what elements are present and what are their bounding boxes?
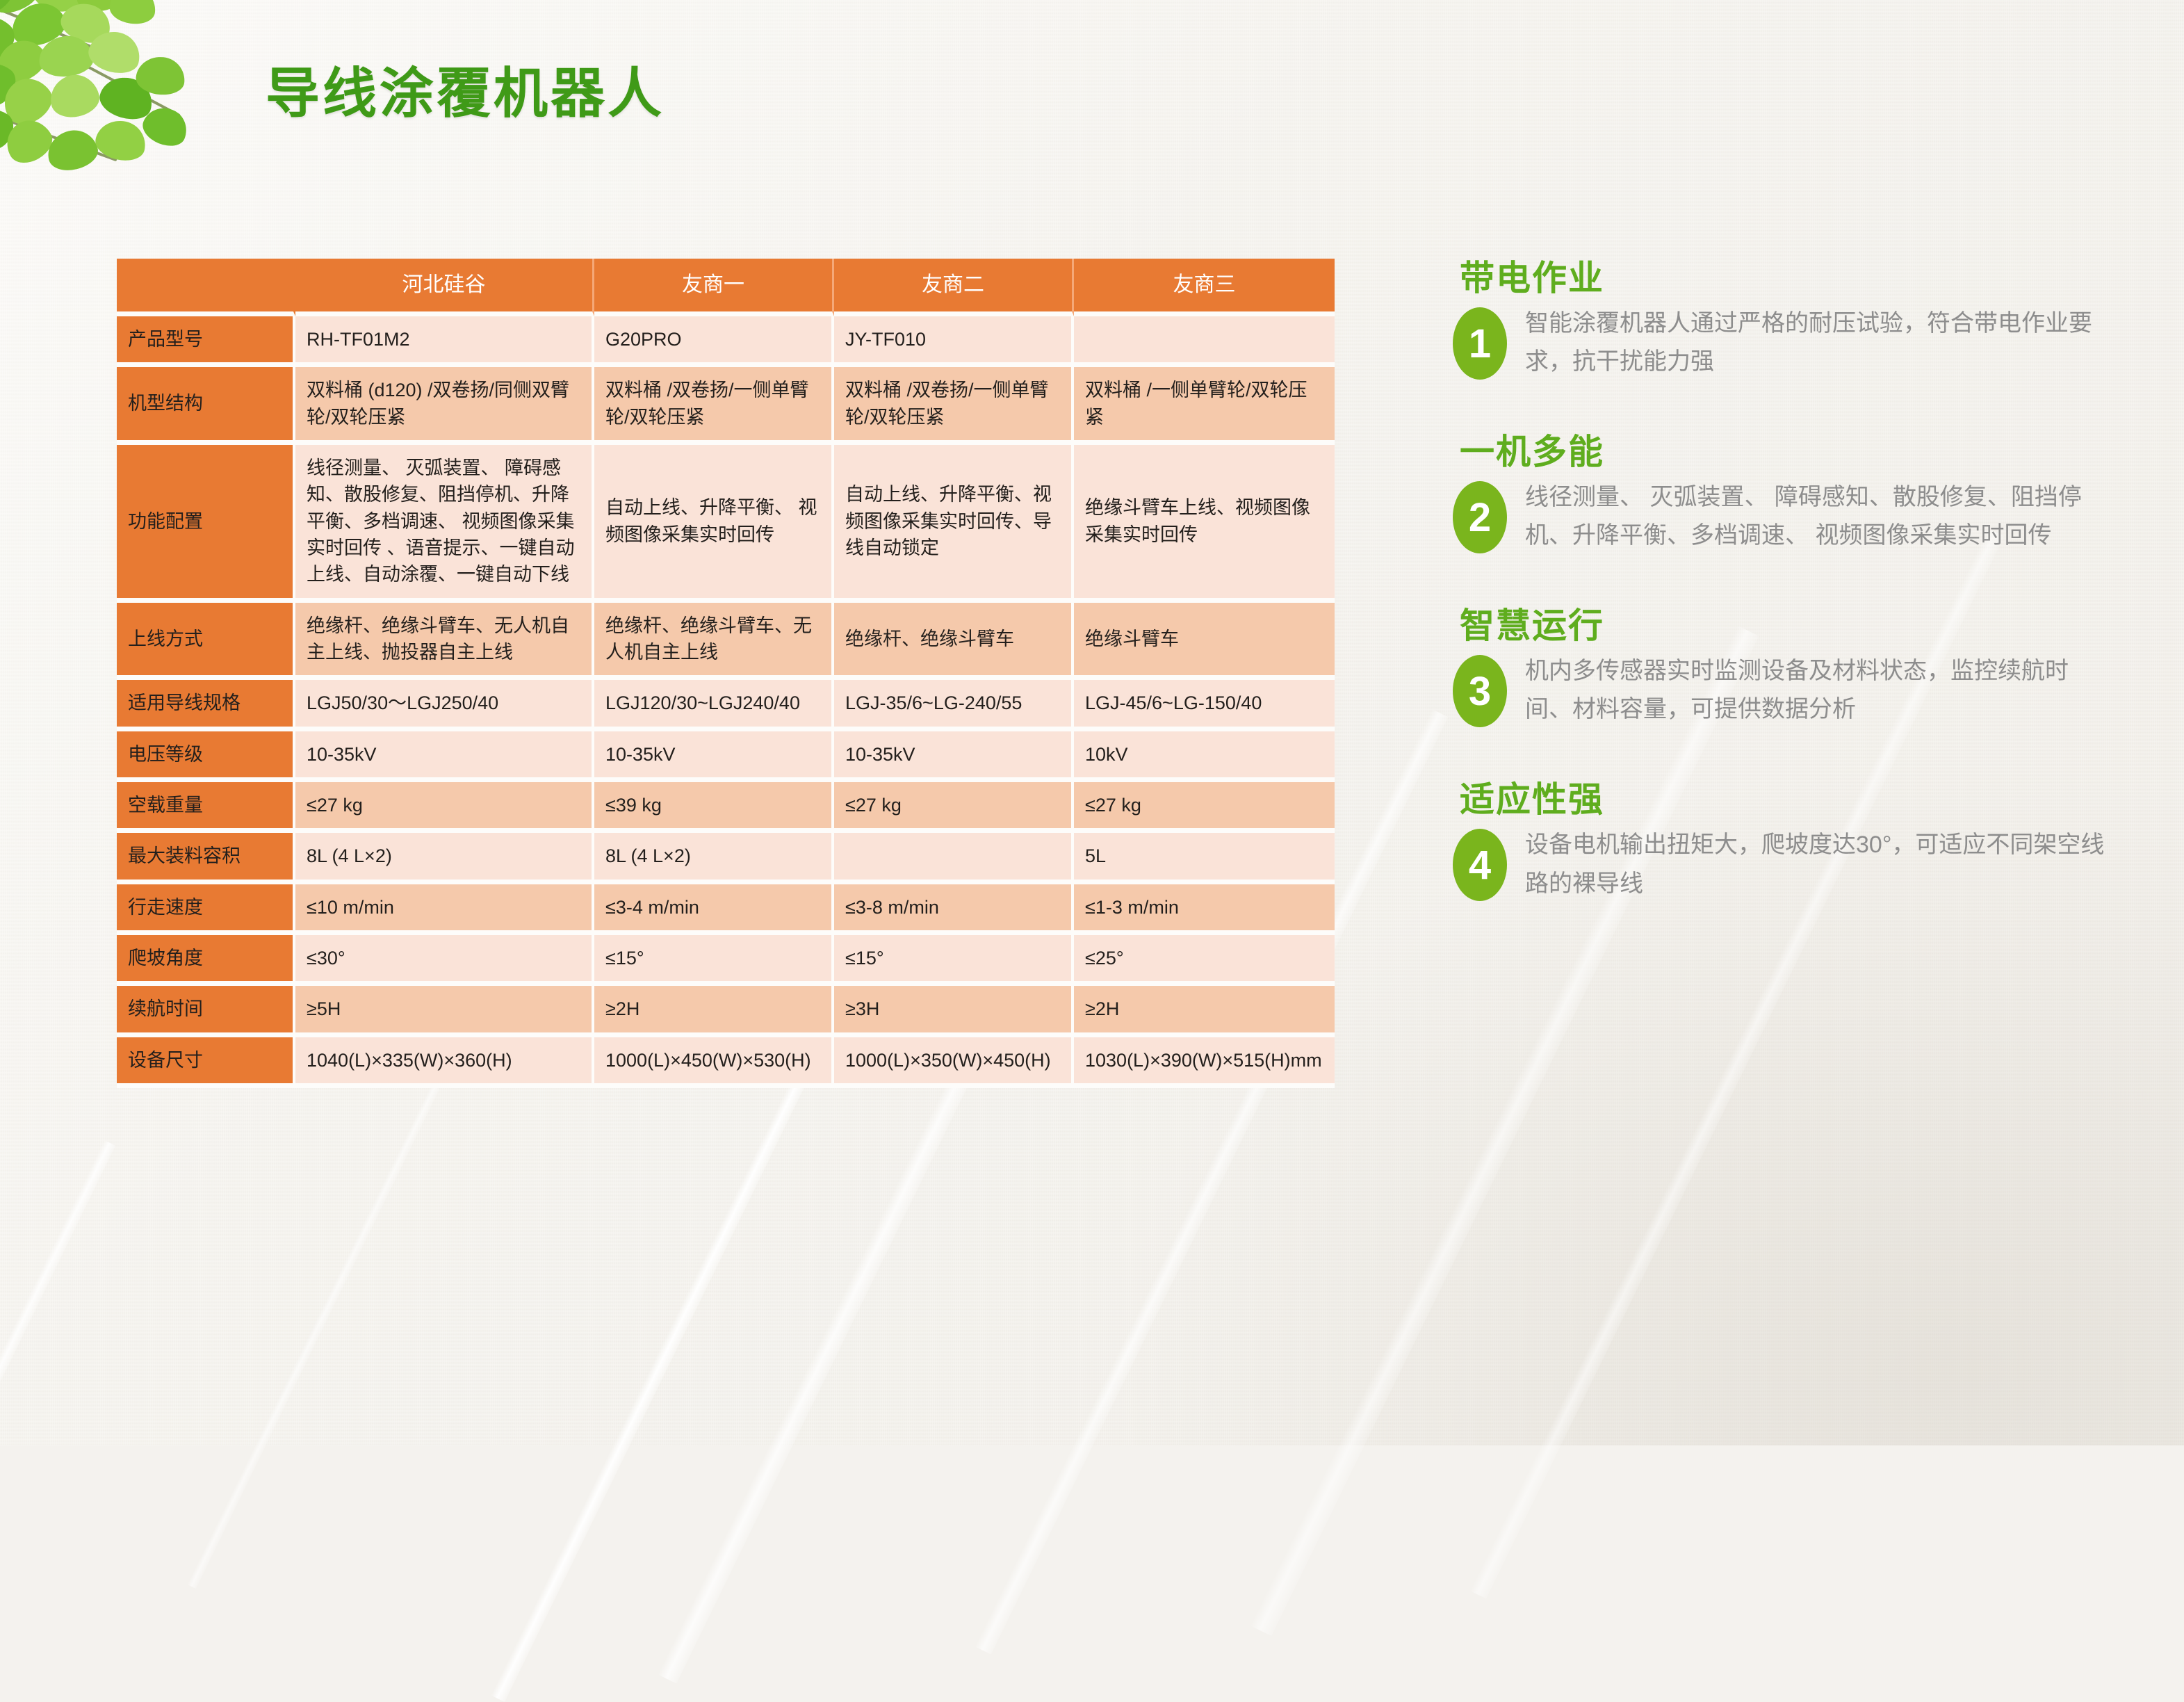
table-header-col-1: 友商一 [594, 259, 834, 316]
table-cell: ≥3H [834, 986, 1074, 1037]
leaf-shape [47, 70, 103, 121]
leaf-shape [92, 116, 149, 165]
row-label: 产品型号 [117, 316, 295, 367]
table-cell: ≤15° [594, 935, 834, 986]
table-header-col-3: 友商三 [1074, 259, 1335, 316]
comparison-table: 河北硅谷 友商一 友商二 友商三 产品型号RH-TF01M2G20PROJY-T… [117, 259, 1335, 1088]
feature-description: 机内多传感器实时监测设备及材料状态，监控续航时间、材料容量，可提供数据分析 [1525, 652, 2109, 729]
table-cell: 绝缘斗臂车上线、视频图像采集实时回传 [1074, 445, 1335, 603]
table-header-col-2: 友商二 [834, 259, 1074, 316]
table-cell: LGJ120/30~LGJ240/40 [594, 680, 834, 731]
table-cell: 自动上线、升降平衡、视频图像采集实时回传、导线自动锁定 [834, 445, 1074, 603]
table-row: 设备尺寸1040(L)×335(W)×360(H)1000(L)×450(W)×… [117, 1037, 1335, 1088]
feature-number-badge: 1 [1453, 307, 1507, 380]
table-cell: LGJ-35/6~LG-240/55 [834, 680, 1074, 731]
table-cell: 10-35kV [834, 731, 1074, 782]
table-cell: 绝缘杆、绝缘斗臂车 [834, 603, 1074, 681]
feature-item-1: 带电作业 1 智能涂覆机器人通过严格的耐压试验，符合带电作业要求，抗干扰能力强 [1453, 250, 2120, 381]
table-cell: JY-TF010 [834, 316, 1074, 367]
table-row: 产品型号RH-TF01M2G20PROJY-TF010 [117, 316, 1335, 367]
table-cell: 1000(L)×450(W)×530(H) [594, 1037, 834, 1088]
table-cell: 绝缘杆、绝缘斗臂车、无人机自主上线 [594, 603, 834, 681]
table-cell: 1040(L)×335(W)×360(H) [295, 1037, 594, 1088]
table-header-col-0: 河北硅谷 [295, 259, 594, 316]
table-cell: 双料桶 /一侧单臂轮/双轮压紧 [1074, 367, 1335, 445]
table-row: 爬坡角度≤30°≤15°≤15°≤25° [117, 935, 1335, 986]
row-label: 适用导线规格 [117, 680, 295, 731]
table-cell: ≤1-3 m/min [1074, 884, 1335, 935]
table-cell: 绝缘杆、绝缘斗臂车、无人机自主上线、抛投器自主上线 [295, 603, 594, 681]
table-cell: LGJ50/30～LGJ250/40 [295, 680, 594, 731]
table-cell: ≥2H [594, 986, 834, 1037]
leaf-shape [43, 125, 101, 175]
feature-title: 适应性强 [1460, 772, 2120, 822]
table-row: 电压等级10-35kV10-35kV10-35kV10kV [117, 731, 1335, 782]
row-label: 空载重量 [117, 782, 295, 833]
table-cell: ≤15° [834, 935, 1074, 986]
row-label: 行走速度 [117, 884, 295, 935]
table-cell: 双料桶 /双卷扬/一侧单臂轮/双轮压紧 [834, 367, 1074, 445]
feature-list: 带电作业 1 智能涂覆机器人通过严格的耐压试验，符合带电作业要求，抗干扰能力强 … [1453, 250, 2120, 946]
row-label: 电压等级 [117, 731, 295, 782]
feature-title: 带电作业 [1460, 250, 2120, 300]
table-cell: 10kV [1074, 731, 1335, 782]
table-cell: 1000(L)×350(W)×450(H) [834, 1037, 1074, 1088]
page-title: 导线涂覆机器人 [266, 50, 665, 128]
table-cell: 8L (4 L×2) [594, 833, 834, 884]
table-cell: LGJ-45/6~LG-150/40 [1074, 680, 1335, 731]
table-cell [834, 833, 1074, 884]
table-cell: 8L (4 L×2) [295, 833, 594, 884]
table-cell: ≤3-8 m/min [834, 884, 1074, 935]
table-cell: 1030(L)×390(W)×515(H)mm [1074, 1037, 1335, 1088]
row-label: 上线方式 [117, 603, 295, 681]
feature-number-badge: 3 [1453, 655, 1507, 727]
table-cell: 10-35kV [295, 731, 594, 782]
leaves-decoration [0, 0, 209, 195]
table-cell: ≤3-4 m/min [594, 884, 834, 935]
table-cell: 自动上线、升降平衡、 视频图像采集实时回传 [594, 445, 834, 603]
row-label: 爬坡角度 [117, 935, 295, 986]
table-row: 适用导线规格LGJ50/30～LGJ250/40LGJ120/30~LGJ240… [117, 680, 1335, 731]
feature-item-2: 一机多能 2 线径测量、 灭弧装置、 障碍感知、散股修复、阻挡停机、升降平衡、多… [1453, 424, 2120, 555]
table-cell: ≤39 kg [594, 782, 834, 833]
row-label: 设备尺寸 [117, 1037, 295, 1088]
table-cell: ≥5H [295, 986, 594, 1037]
table-cell: ≤27 kg [295, 782, 594, 833]
row-label: 功能配置 [117, 445, 295, 603]
table-row: 上线方式绝缘杆、绝缘斗臂车、无人机自主上线、抛投器自主上线绝缘杆、绝缘斗臂车、无… [117, 603, 1335, 681]
feature-item-4: 适应性强 4 设备电机输出扭矩大，爬坡度达30°，可适应不同架空线路的裸导线 [1453, 772, 2120, 902]
feature-description: 智能涂覆机器人通过严格的耐压试验，符合带电作业要求，抗干扰能力强 [1525, 305, 2109, 381]
row-label: 机型结构 [117, 367, 295, 445]
row-label: 续航时间 [117, 986, 295, 1037]
feature-title: 一机多能 [1460, 424, 2120, 474]
table-cell: ≤30° [295, 935, 594, 986]
table-row: 续航时间≥5H≥2H≥3H≥2H [117, 986, 1335, 1037]
table-cell [1074, 316, 1335, 367]
table-cell: 5L [1074, 833, 1335, 884]
table-cell: ≤27 kg [834, 782, 1074, 833]
table-cell: ≥2H [1074, 986, 1335, 1037]
table-cell: G20PRO [594, 316, 834, 367]
table-cell: 双料桶 /双卷扬/一侧单臂轮/双轮压紧 [594, 367, 834, 445]
feature-number-badge: 2 [1453, 481, 1507, 553]
table-row: 空载重量≤27 kg≤39 kg≤27 kg≤27 kg [117, 782, 1335, 833]
feature-number-badge: 4 [1453, 829, 1507, 901]
table-cell: 10-35kV [594, 731, 834, 782]
table-header-row: 河北硅谷 友商一 友商二 友商三 [117, 259, 1335, 316]
table-header-blank [117, 259, 295, 316]
feature-title: 智慧运行 [1460, 598, 2120, 648]
leaf-shape [108, 0, 158, 26]
table-cell: RH-TF01M2 [295, 316, 594, 367]
feature-description: 线径测量、 灭弧装置、 障碍感知、散股修复、阻挡停机、升降平衡、多档调速、 视频… [1525, 478, 2109, 555]
table-cell: ≤27 kg [1074, 782, 1335, 833]
table-cell: ≤10 m/min [295, 884, 594, 935]
table-row: 最大装料容积8L (4 L×2)8L (4 L×2)5L [117, 833, 1335, 884]
table-cell: 双料桶 (d120) /双卷扬/同侧双臂轮/双轮压紧 [295, 367, 594, 445]
feature-item-3: 智慧运行 3 机内多传感器实时监测设备及材料状态，监控续航时间、材料容量，可提供… [1453, 598, 2120, 729]
table-cell: ≤25° [1074, 935, 1335, 986]
table-row: 功能配置线径测量、 灭弧装置、 障碍感知、散股修复、阻挡停机、升降平衡、多档调速… [117, 445, 1335, 603]
feature-description: 设备电机输出扭矩大，爬坡度达30°，可适应不同架空线路的裸导线 [1525, 826, 2109, 902]
table-cell: 线径测量、 灭弧装置、 障碍感知、散股修复、阻挡停机、升降平衡、多档调速、 视频… [295, 445, 594, 603]
row-label: 最大装料容积 [117, 833, 295, 884]
table-row: 机型结构双料桶 (d120) /双卷扬/同侧双臂轮/双轮压紧双料桶 /双卷扬/一… [117, 367, 1335, 445]
table-cell: 绝缘斗臂车 [1074, 603, 1335, 681]
table-row: 行走速度≤10 m/min≤3-4 m/min≤3-8 m/min≤1-3 m/… [117, 884, 1335, 935]
